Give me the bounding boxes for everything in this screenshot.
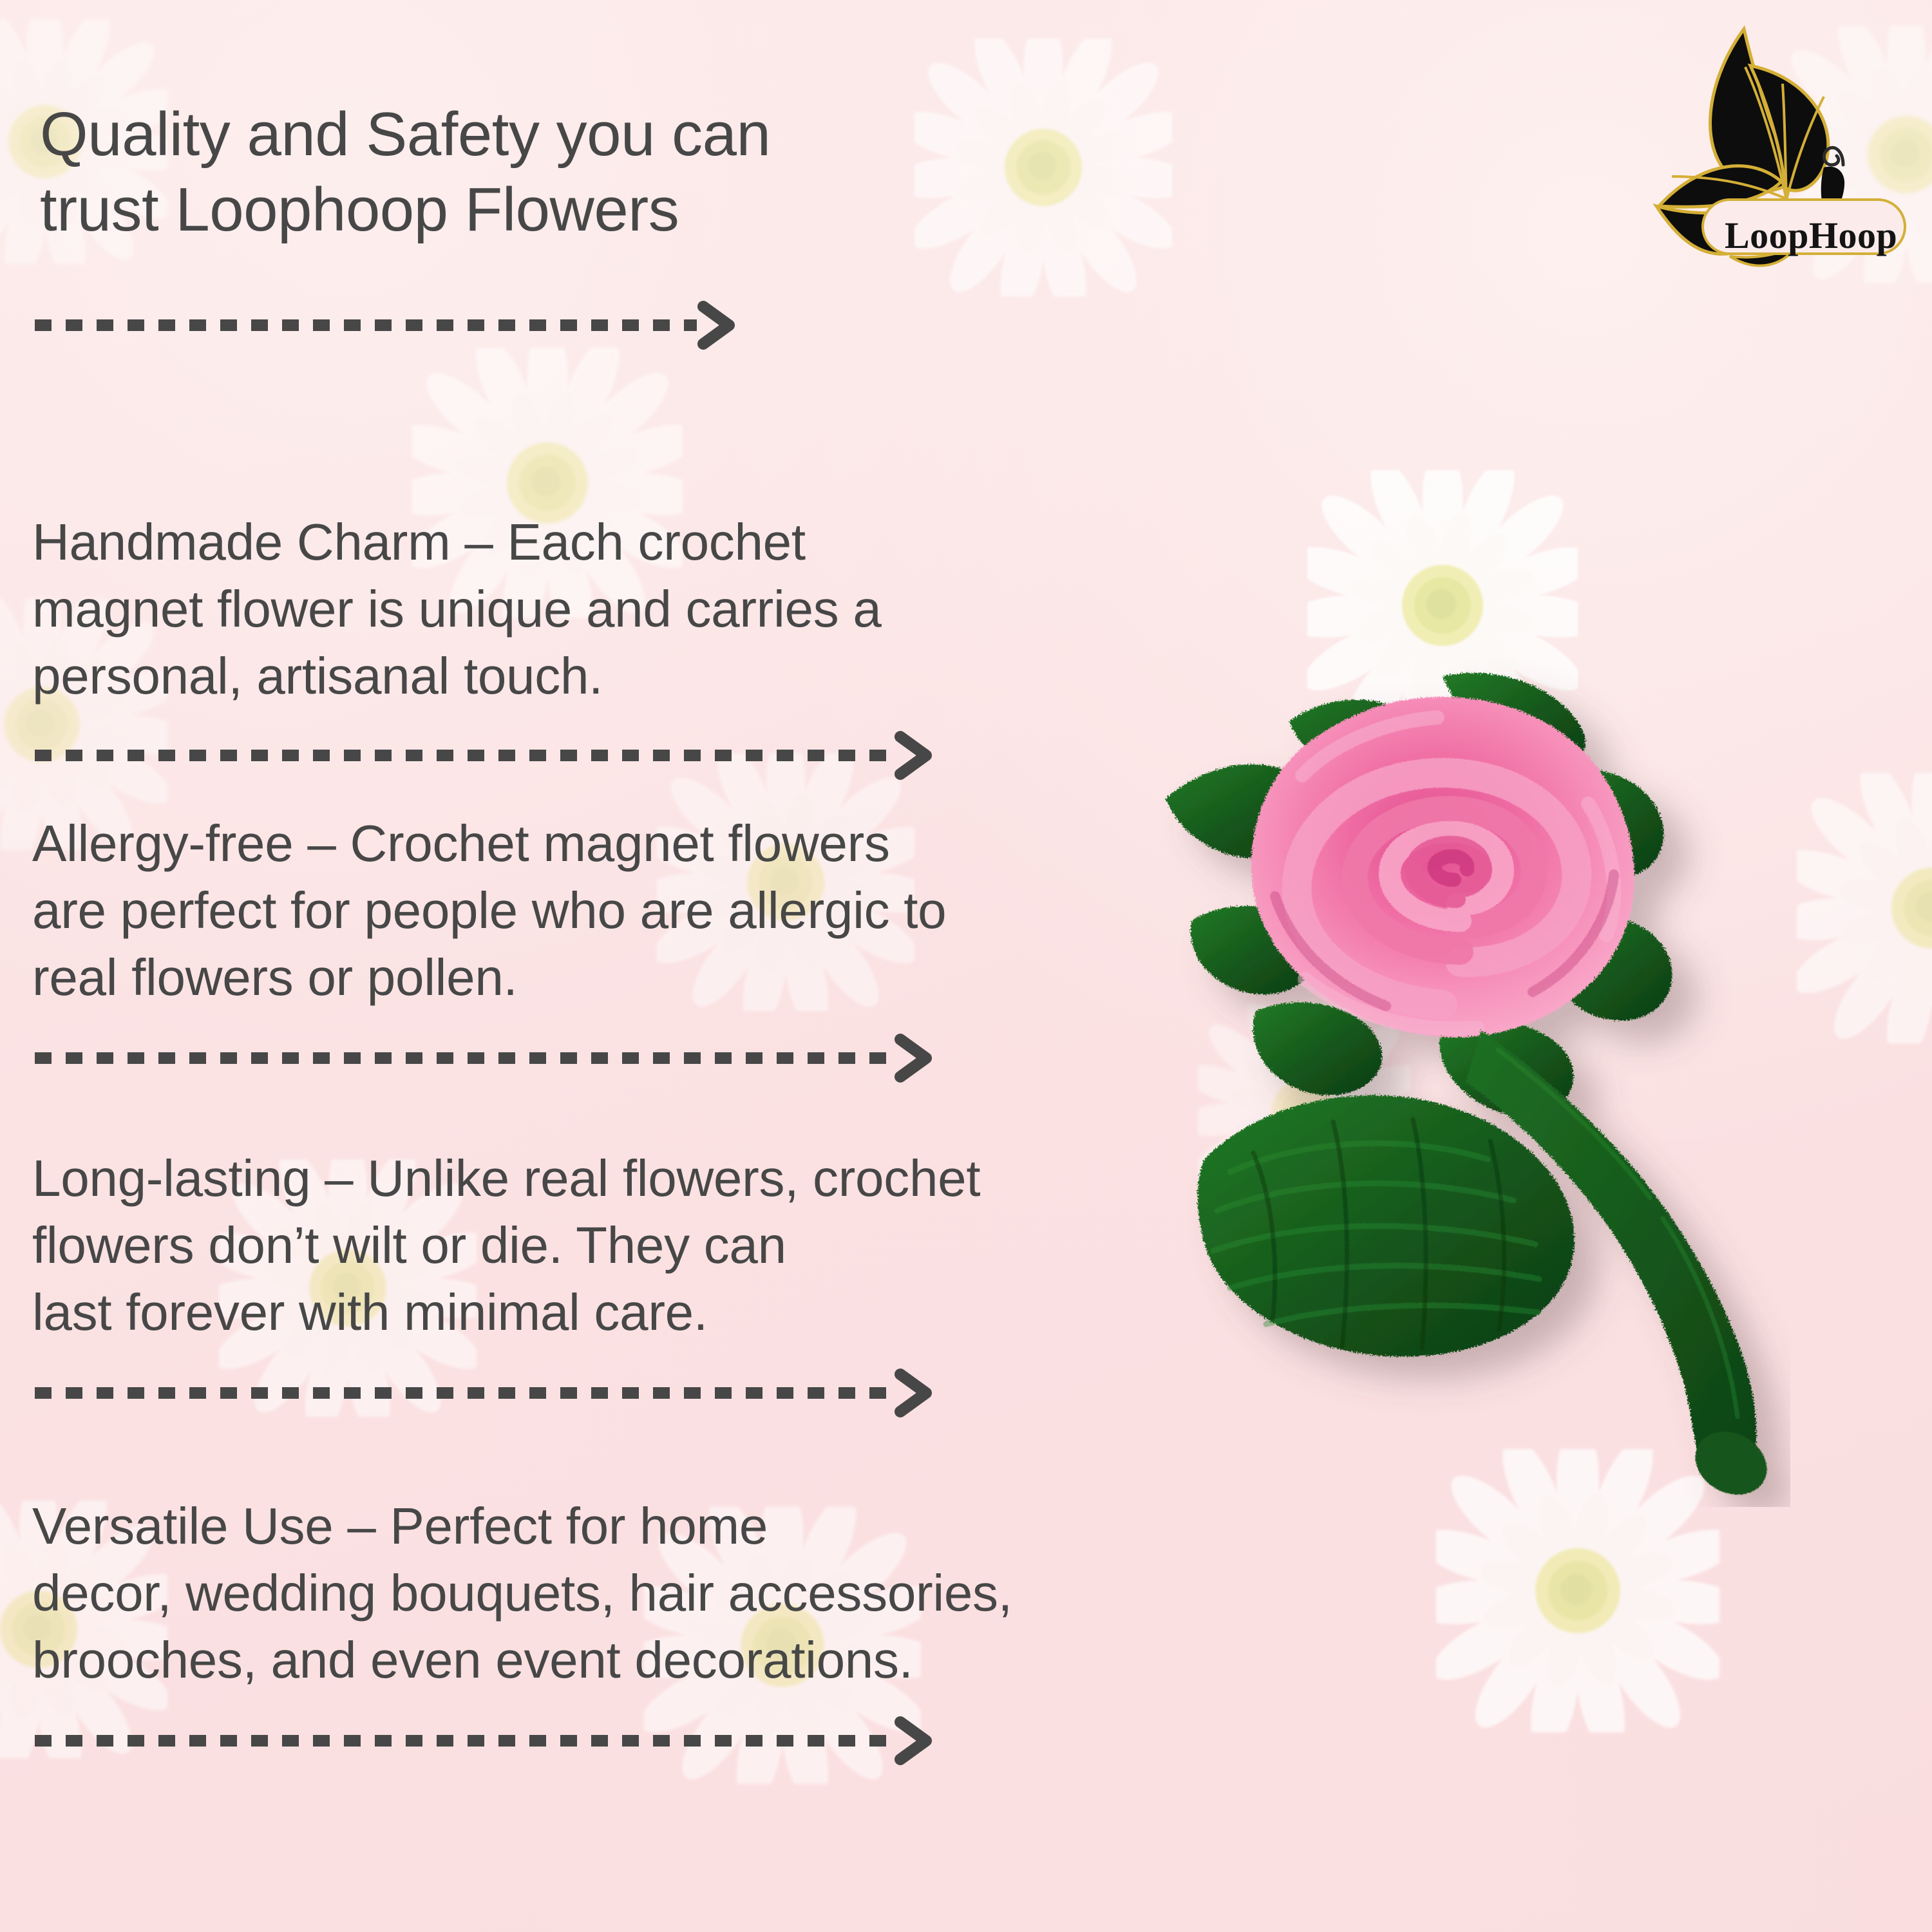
divider-versatile-use <box>32 1718 947 1763</box>
poster-canvas: LoopHoop Quality and Safety you can trus… <box>0 0 1932 1932</box>
feature-allergy-free: Allergy-free – Crochet magnet flowers ar… <box>32 810 1166 1011</box>
divider-headline <box>32 303 747 348</box>
divider-allergy-free <box>32 1036 947 1081</box>
rose-bloom <box>1251 697 1634 1037</box>
crochet-rose-magnet <box>1140 644 1790 1507</box>
divider-long-lasting <box>32 1370 947 1416</box>
feature-handmade-charm: Handmade Charm – Each crochet magnet flo… <box>32 509 1166 710</box>
feature-versatile-use: Versatile Use – Perfect for home decor, … <box>32 1493 1166 1694</box>
divider-handmade-charm <box>32 733 947 778</box>
rose-leaf <box>1198 1095 1575 1357</box>
page-title: Quality and Safety you can trust Loophoo… <box>40 97 1006 247</box>
feature-long-lasting: Long-lasting – Unlike real flowers, croc… <box>32 1145 1166 1346</box>
